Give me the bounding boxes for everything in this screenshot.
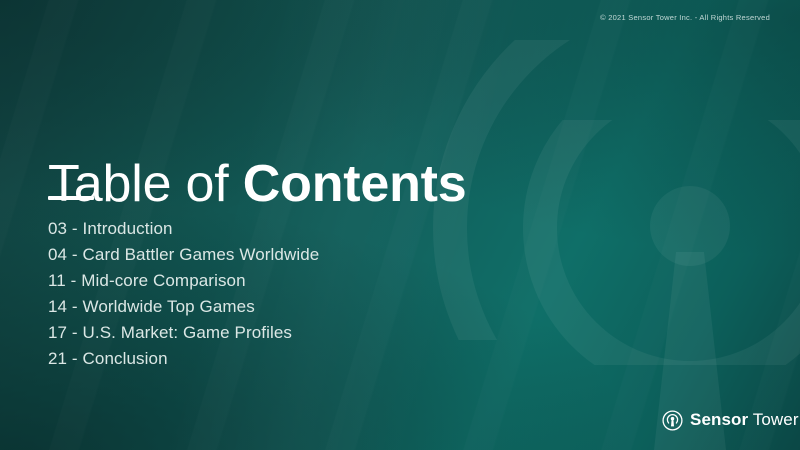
toc-item[interactable]: 17 - U.S. Market: Game Profiles: [48, 320, 319, 346]
toc-item[interactable]: 03 - Introduction: [48, 216, 319, 242]
page-title-bold: Contents: [243, 155, 467, 213]
toc-item[interactable]: 11 - Mid-core Comparison: [48, 268, 319, 294]
sensor-tower-wordmark: Sensor Tower: [690, 410, 799, 430]
wordmark-tower: Tower: [748, 410, 798, 429]
slide-table-of-contents: © 2021 Sensor Tower Inc. - All Rights Re…: [0, 0, 800, 450]
toc-item[interactable]: 14 - Worldwide Top Games: [48, 294, 319, 320]
copyright-notice: © 2021 Sensor Tower Inc. - All Rights Re…: [600, 13, 770, 22]
table-of-contents-list: 03 - Introduction 04 - Card Battler Game…: [48, 216, 319, 372]
wordmark-sensor: Sensor: [690, 410, 748, 429]
page-title-light: Table of: [48, 155, 243, 213]
sensor-tower-logo: Sensor Tower: [662, 408, 799, 432]
toc-item[interactable]: 21 - Conclusion: [48, 346, 319, 372]
sensor-tower-mark-icon: [662, 410, 683, 431]
title-divider: [48, 196, 94, 200]
page-title: Table of Contents: [48, 157, 467, 212]
toc-item[interactable]: 04 - Card Battler Games Worldwide: [48, 242, 319, 268]
